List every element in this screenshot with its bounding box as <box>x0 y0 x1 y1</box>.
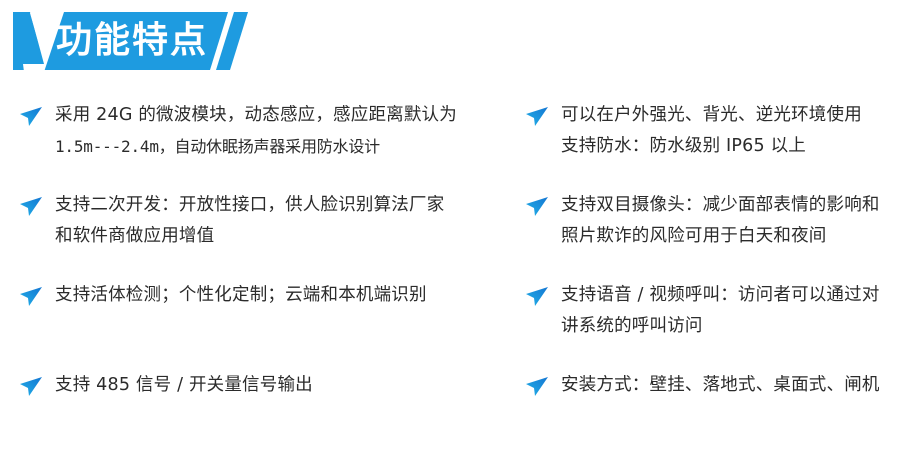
list-item: 采用 24G 的微波模块，动态感应，感应距离默认为 1.5m---2.4m，自动… <box>18 100 488 162</box>
arrow-bullet-icon <box>18 194 44 220</box>
arrow-bullet-icon <box>18 104 44 130</box>
list-item-line: 采用 24G 的微波模块，动态感应，感应距离默认为 <box>55 100 488 131</box>
list-item-text: 支持二次开发：开放性接口，供人脸识别算法厂家 和软件商做应用增值 <box>55 190 488 252</box>
list-item: 安装方式：壁挂、落地式、桌面式、闸机 <box>524 370 900 401</box>
list-item: 支持活体检测；个性化定制；云端和本机端识别 <box>18 280 488 311</box>
list-item: 支持双目摄像头：减少面部表情的影响和 照片欺诈的风险可用于白天和夜间 <box>524 190 900 252</box>
list-item-line: 支持二次开发：开放性接口，供人脸识别算法厂家 <box>55 190 488 221</box>
list-item: 支持二次开发：开放性接口，供人脸识别算法厂家 和软件商做应用增值 <box>18 190 488 252</box>
list-item: 可以在户外强光、背光、逆光环境使用 支持防水：防水级别 IP65 以上 <box>524 100 900 162</box>
list-item: 支持语音 / 视频呼叫：访问者可以通过对 讲系统的呼叫访问 <box>524 280 900 342</box>
features-section: 采用 24G 的微波模块，动态感应，感应距离默认为 1.5m---2.4m，自动… <box>0 96 900 436</box>
list-item-text: 支持活体检测；个性化定制；云端和本机端识别 <box>55 280 488 311</box>
list-item-line: 照片欺诈的风险可用于白天和夜间 <box>561 221 900 252</box>
features-right-column: 可以在户外强光、背光、逆光环境使用 支持防水：防水级别 IP65 以上 支持双目… <box>524 96 900 436</box>
list-item-line: 安装方式：壁挂、落地式、桌面式、闸机 <box>561 370 900 401</box>
arrow-bullet-icon <box>524 104 550 130</box>
list-item-line: 可以在户外强光、背光、逆光环境使用 <box>561 100 900 131</box>
list-item-line: 支持活体检测；个性化定制；云端和本机端识别 <box>55 280 488 311</box>
arrow-bullet-icon <box>18 374 44 400</box>
list-item-text: 安装方式：壁挂、落地式、桌面式、闸机 <box>561 370 900 401</box>
list-item-text: 采用 24G 的微波模块，动态感应，感应距离默认为 1.5m---2.4m，自动… <box>55 100 488 162</box>
features-left-column: 采用 24G 的微波模块，动态感应，感应距离默认为 1.5m---2.4m，自动… <box>18 96 488 436</box>
list-item-line: 支持 485 信号 / 开关量信号输出 <box>55 370 488 401</box>
section-header-banner: 功能特点 <box>0 0 320 86</box>
list-item: 支持 485 信号 / 开关量信号输出 <box>18 370 488 401</box>
list-item-line: 支持双目摄像头：减少面部表情的影响和 <box>561 190 900 221</box>
list-item-line: 讲系统的呼叫访问 <box>561 311 900 342</box>
list-item-line: 1.5m---2.4m，自动休眠扬声器采用防水设计 <box>55 131 488 162</box>
arrow-bullet-icon <box>18 284 44 310</box>
list-item-line: 支持语音 / 视频呼叫：访问者可以通过对 <box>561 280 900 311</box>
arrow-bullet-icon <box>524 284 550 310</box>
list-item-text: 支持双目摄像头：减少面部表情的影响和 照片欺诈的风险可用于白天和夜间 <box>561 190 900 252</box>
list-item-line: 支持防水：防水级别 IP65 以上 <box>561 131 900 162</box>
arrow-bullet-icon <box>524 374 550 400</box>
list-item-text: 支持语音 / 视频呼叫：访问者可以通过对 讲系统的呼叫访问 <box>561 280 900 342</box>
list-item-text: 可以在户外强光、背光、逆光环境使用 支持防水：防水级别 IP65 以上 <box>561 100 900 162</box>
list-item-text: 支持 485 信号 / 开关量信号输出 <box>55 370 488 401</box>
page-title: 功能特点 <box>56 14 232 68</box>
list-item-line: 和软件商做应用增值 <box>55 221 488 252</box>
arrow-bullet-icon <box>524 194 550 220</box>
